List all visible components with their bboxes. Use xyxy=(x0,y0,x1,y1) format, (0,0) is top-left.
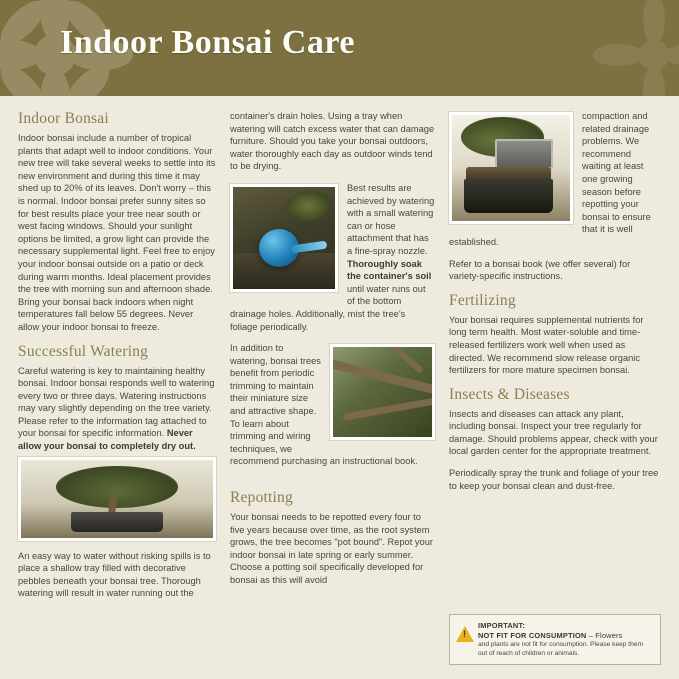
column-right: compaction and related drainage problems… xyxy=(449,110,661,679)
paragraph-best-results-lead: Best results are achieved by watering wi… xyxy=(347,183,434,256)
page-header: Indoor Bonsai Care xyxy=(0,0,679,96)
content-area: Indoor Bonsai Indoor bonsai include a nu… xyxy=(0,96,679,679)
wiring-block: In addition to watering, bonsai trees be… xyxy=(230,342,435,477)
tray-photo-black-pot xyxy=(464,179,554,213)
blue-watering-can-photo xyxy=(230,184,338,292)
heading-fertilizing: Fertilizing xyxy=(449,292,661,310)
blue-can-block: Best results are achieved by watering wi… xyxy=(230,182,435,342)
wired-branch-photo xyxy=(330,344,435,440)
branch-photo-limb-3 xyxy=(374,344,424,374)
paragraph-watering-a: Careful watering is key to maintaining h… xyxy=(18,365,216,453)
warning-text: and plants are not fit for consumption. … xyxy=(478,641,653,658)
column-middle: container's drain holes. Using a tray wh… xyxy=(230,110,435,679)
paragraph-insects-a: Insects and diseases can attack any plan… xyxy=(449,408,661,458)
bonsai-in-black-pot-photo xyxy=(18,457,216,541)
paragraph-insects-b: Periodically spray the trunk and foliage… xyxy=(449,467,661,492)
warning-title-tail: – Flowers xyxy=(586,631,622,640)
paragraph-watering-b: An easy way to water without risking spi… xyxy=(18,550,216,600)
floral-ornament-secondary-icon xyxy=(569,0,679,96)
important-warning-box: IMPORTANT:NOT FIT FOR CONSUMPTION – Flow… xyxy=(449,614,661,665)
blue-photo-foliage xyxy=(287,191,329,221)
paragraph-indoor-bonsai: Indoor bonsai include a number of tropic… xyxy=(18,132,216,334)
paragraph-refer-book: Refer to a bonsai book (we offer several… xyxy=(449,258,661,283)
heading-repotting: Repotting xyxy=(230,489,435,507)
paragraph-drain-holes: container's drain holes. Using a tray wh… xyxy=(230,110,435,173)
warning-title: IMPORTANT:NOT FIT FOR CONSUMPTION – Flow… xyxy=(478,621,653,640)
bonsai-pot-and-tray-photo xyxy=(449,112,573,224)
warning-title-main: NOT FIT FOR CONSUMPTION xyxy=(478,631,586,640)
warning-triangle-icon xyxy=(456,626,474,642)
pot-photo-foliage xyxy=(56,466,179,508)
tray-photo-block: compaction and related drainage problems… xyxy=(449,110,661,258)
pot-photo-container xyxy=(71,512,163,532)
branch-photo-limb-2 xyxy=(343,396,435,420)
paragraph-fertilizing: Your bonsai requires supplemental nutrie… xyxy=(449,314,661,377)
paragraph-best-results-bold: Thoroughly soak the container's soil xyxy=(347,259,431,282)
brochure-page: Indoor Bonsai Care Indoor Bonsai Indoor … xyxy=(0,0,679,679)
heading-indoor-bonsai: Indoor Bonsai xyxy=(18,110,216,128)
tray-photo-grey-tray xyxy=(495,139,553,169)
page-title: Indoor Bonsai Care xyxy=(60,24,355,62)
paragraph-repotting: Your bonsai needs to be repotted every f… xyxy=(230,511,435,587)
heading-successful-watering: Successful Watering xyxy=(18,343,216,361)
column-left: Indoor Bonsai Indoor bonsai include a nu… xyxy=(18,110,216,679)
warning-title-important: IMPORTANT: xyxy=(478,621,525,630)
heading-insects-diseases: Insects & Diseases xyxy=(449,386,661,404)
